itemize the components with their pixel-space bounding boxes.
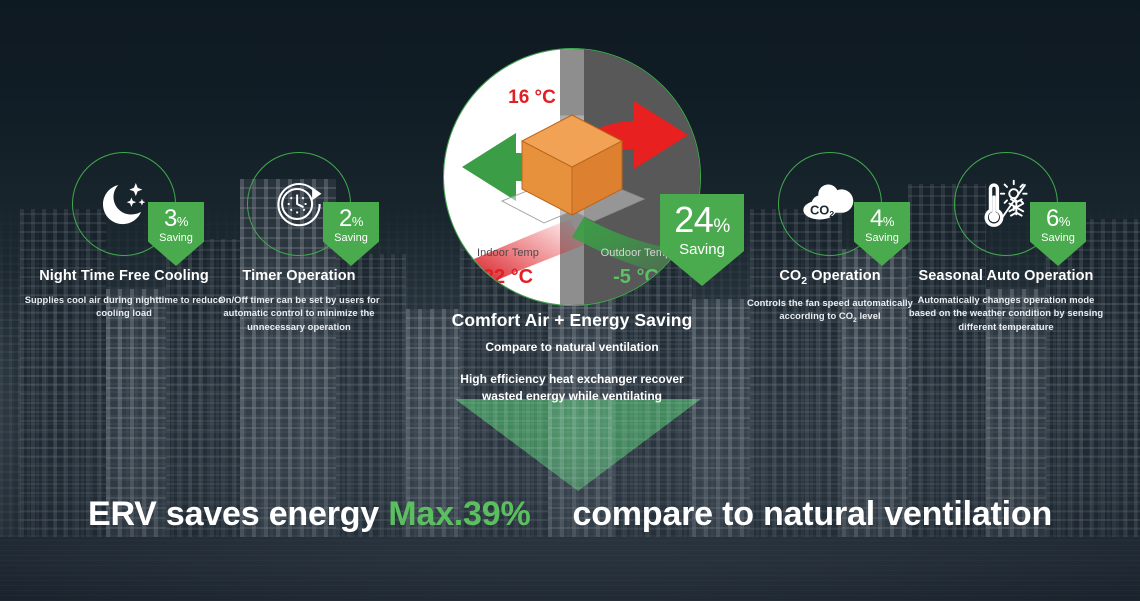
feature-title: CO2 Operation (730, 268, 930, 287)
saving-value: 24% (674, 202, 729, 238)
feature-co2-operation[interactable]: CO 2 4% Saving CO2 Operation Controls th… (730, 152, 930, 326)
svg-text:2: 2 (829, 209, 834, 219)
indoor-temp-label: Indoor Temp (444, 247, 572, 259)
feature-title: Night Time Free Cooling (24, 268, 224, 284)
saving-label: Saving (865, 233, 899, 244)
icon-ring-wrap: 6% Saving (954, 152, 1058, 256)
hero-diagram: 16 °C Indoor Temp Outdoor Temp 22 °C -5 … (443, 48, 701, 306)
feature-description: On/Off timer can be set by users for aut… (199, 293, 399, 333)
saving-value: 3% (164, 207, 188, 231)
saving-label: Saving (334, 233, 368, 244)
headline-highlight: Max.39% (388, 495, 530, 533)
bottom-headline: ERV saves energy Max.39%compare to natur… (0, 495, 1140, 534)
feature-timer-operation[interactable]: 2% Saving Timer Operation On/Off timer c… (199, 152, 399, 333)
saving-value: 2% (339, 207, 363, 231)
outdoor-temp-value: -5 °C (572, 266, 700, 289)
infographic-stage: 3% Saving Night Time Free Cooling Suppli… (0, 0, 1140, 601)
supply-temp: 16 °C (472, 87, 592, 109)
saving-badge: 2% Saving (323, 202, 379, 266)
icon-ring-wrap: CO 2 4% Saving (778, 152, 882, 256)
feature-description: Supplies cool air during nighttime to re… (24, 293, 224, 320)
saving-label: Saving (679, 242, 725, 257)
feature-description: Automatically changes operation mode bas… (906, 293, 1106, 333)
feature-seasonal-auto-operation[interactable]: 6% Saving Seasonal Auto Operation Automa… (906, 152, 1106, 333)
saving-badge: 6% Saving (1030, 202, 1086, 266)
indoor-temp-value: 22 °C (444, 266, 572, 289)
headline-part1: ERV saves energy (88, 495, 388, 533)
hero-title: Comfort Air + Energy Saving (390, 310, 754, 331)
saving-badge: 3% Saving (148, 202, 204, 266)
saving-badge: 4% Saving (854, 202, 910, 266)
headline-part2: compare to natural ventilation (573, 495, 1053, 533)
feature-title: Seasonal Auto Operation (906, 268, 1106, 284)
saving-label: Saving (159, 233, 193, 244)
hero-circle: 16 °C Indoor Temp Outdoor Temp 22 °C -5 … (443, 48, 701, 306)
svg-text:CO: CO (810, 202, 829, 217)
feature-title: Timer Operation (199, 268, 399, 284)
icon-ring-wrap: 2% Saving (247, 152, 351, 256)
saving-label: Saving (1041, 233, 1075, 244)
feature-night-time-free-cooling[interactable]: 3% Saving Night Time Free Cooling Suppli… (24, 152, 224, 320)
hero-note: High efficiency heat exchanger recoverwa… (390, 371, 754, 406)
saving-value: 4% (870, 207, 894, 231)
hero-subtitle: Compare to natural ventilation (390, 340, 754, 354)
saving-value: 6% (1046, 207, 1070, 231)
icon-ring-wrap: 3% Saving (72, 152, 176, 256)
feature-description: Controls the fan speed automatically acc… (730, 296, 930, 326)
hero-caption: Comfort Air + Energy Saving Compare to n… (390, 310, 754, 406)
